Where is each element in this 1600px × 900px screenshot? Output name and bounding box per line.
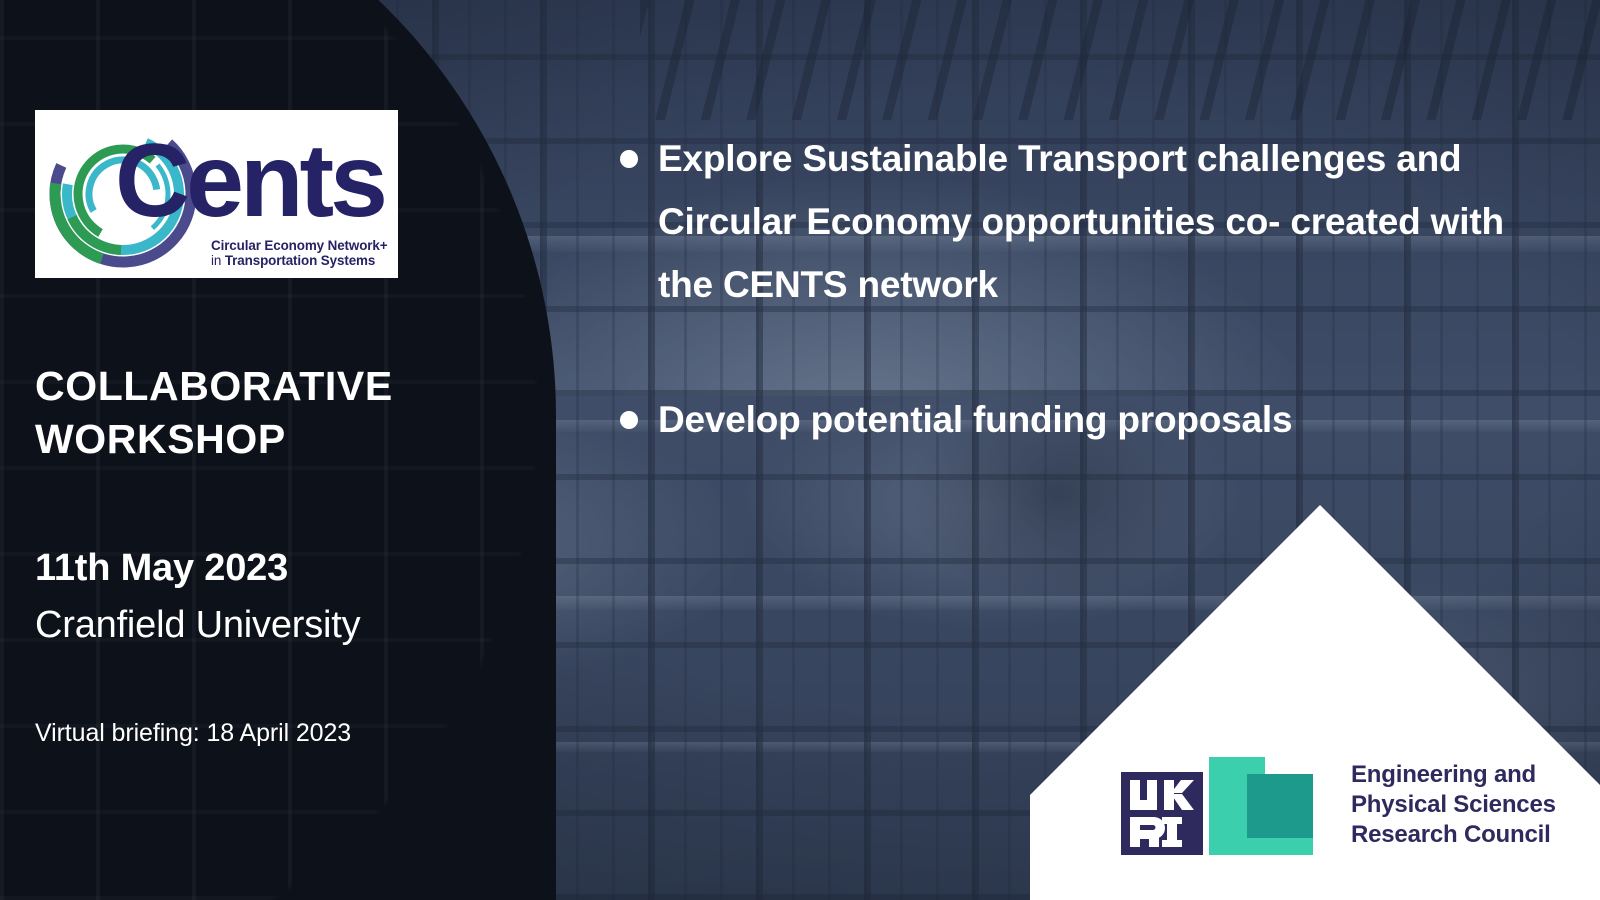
cents-wordmark: Cents [115, 128, 393, 240]
bullet-list: Explore Sustainable Transport challenges… [620, 128, 1520, 452]
cents-tagline: Circular Economy Network+ in Transportat… [211, 238, 393, 268]
cents-logo: Cents Circular Economy Network+ in Trans… [35, 110, 398, 278]
cents-tagline-line2: in Transportation Systems [211, 253, 393, 268]
ukri-teal-bar [1247, 774, 1313, 838]
svg-text:Cents: Cents [115, 128, 384, 239]
event-date: 11th May 2023 [35, 547, 288, 590]
bullet-dot-icon [620, 411, 638, 429]
ukri-epsrc-logo: Engineering and Physical Sciences Resear… [1121, 757, 1556, 855]
ukri-mint-foot [1247, 838, 1313, 855]
list-item: Explore Sustainable Transport challenges… [620, 128, 1520, 317]
bullet-dot-icon [620, 150, 638, 168]
event-location: Cranfield University [35, 604, 360, 647]
virtual-briefing-note: Virtual briefing: 18 April 2023 [35, 719, 351, 748]
funder-name-line3: Research Council [1351, 820, 1556, 850]
event-poster: Cents Circular Economy Network+ in Trans… [0, 0, 1600, 900]
ukri-mark-icon [1121, 757, 1313, 855]
funder-name: Engineering and Physical Sciences Resear… [1351, 757, 1556, 851]
bullet-text: Develop potential funding proposals [658, 389, 1292, 452]
ukri-letters-icon [1121, 772, 1203, 855]
funder-name-line1: Engineering and [1351, 760, 1556, 790]
list-item: Develop potential funding proposals [620, 389, 1520, 452]
cents-tagline-line2-main: Transportation Systems [225, 253, 375, 268]
cents-tagline-prefix: in [211, 253, 225, 268]
bullet-text: Explore Sustainable Transport challenges… [658, 128, 1520, 317]
page-title: COLLABORATIVE WORKSHOP [35, 360, 535, 467]
cents-tagline-line1: Circular Economy Network+ [211, 238, 393, 253]
funder-name-line2: Physical Sciences [1351, 790, 1556, 820]
